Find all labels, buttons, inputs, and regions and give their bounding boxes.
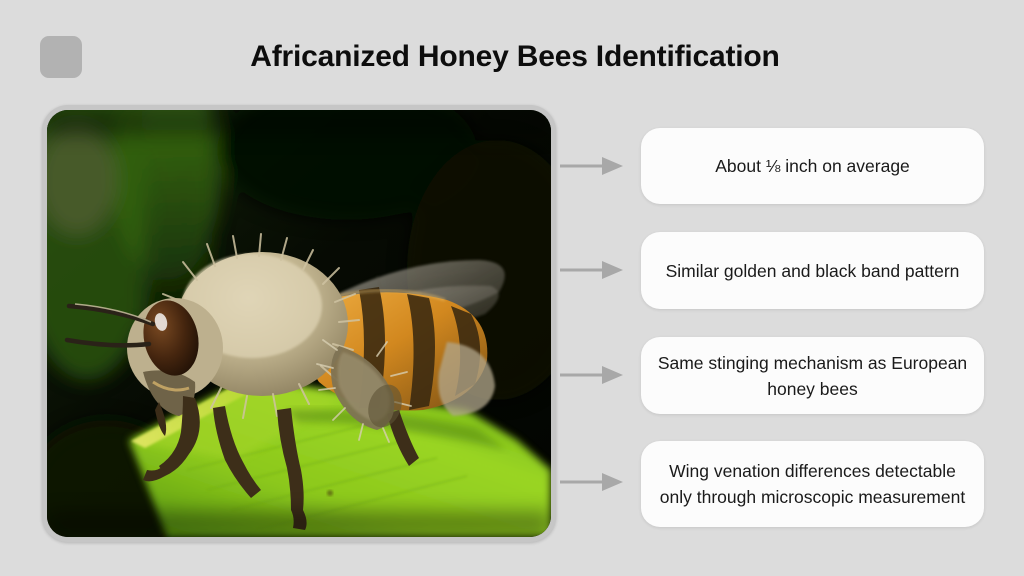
bee-illustration — [47, 110, 551, 537]
fact-card-4: Wing venation differences detectable onl… — [641, 441, 984, 527]
bee-photograph — [47, 110, 551, 537]
fact-card-3: Same stinging mechanism as European hone… — [641, 337, 984, 414]
fact-card-2: Similar golden and black band pattern — [641, 232, 984, 309]
arrow-right-icon-2 — [560, 257, 624, 283]
fact-card-1-text: About ⅛ inch on average — [715, 153, 910, 179]
fact-card-1: About ⅛ inch on average — [641, 128, 984, 204]
rounded-square-marker — [40, 36, 82, 78]
photo-frame — [42, 105, 556, 542]
arrow-right-icon-1 — [560, 153, 624, 179]
page-title: Africanized Honey Bees Identification — [100, 36, 930, 78]
arrow-right-icon-3 — [560, 362, 624, 388]
fact-card-4-text: Wing venation differences detectable onl… — [657, 458, 968, 510]
arrow-right-icon-4 — [560, 469, 624, 495]
fact-card-3-text: Same stinging mechanism as European hone… — [657, 350, 968, 402]
fact-card-2-text: Similar golden and black band pattern — [666, 258, 960, 284]
